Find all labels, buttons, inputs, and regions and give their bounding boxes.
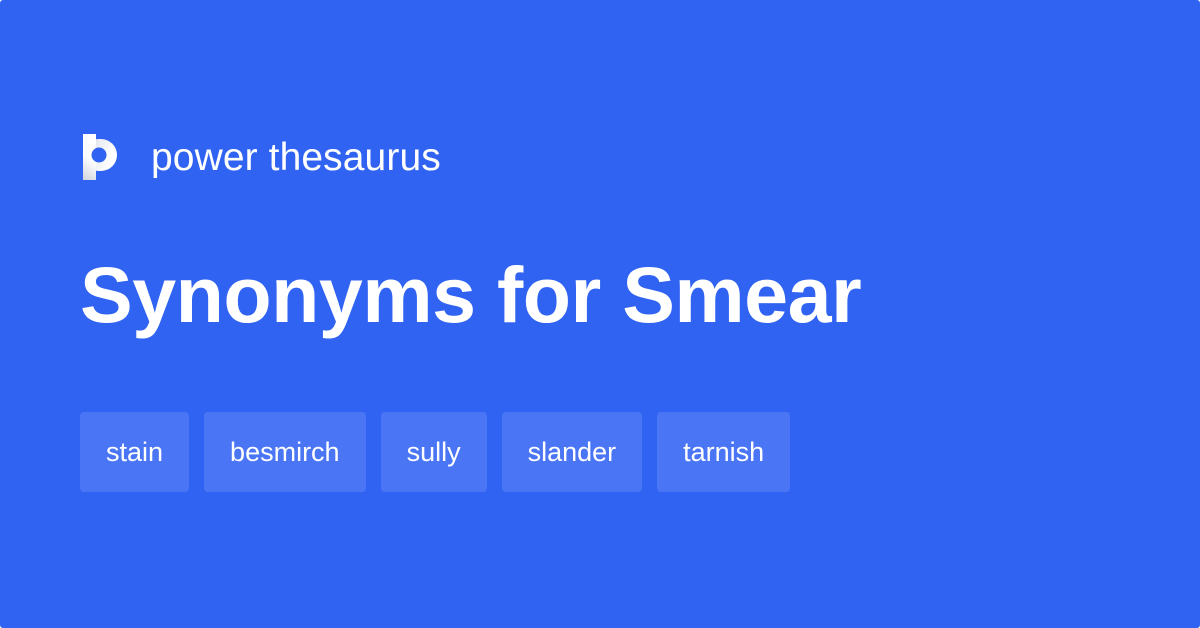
synonym-chip-list: stain besmirch sully slander tarnish [80,412,790,492]
power-thesaurus-b-logo-icon [80,132,118,182]
brand-name: power thesaurus [151,138,441,177]
page-canvas: power thesaurus Synonyms for Smear stain… [0,0,1200,628]
synonym-chip[interactable]: besmirch [204,412,366,492]
synonym-chip[interactable]: slander [502,412,643,492]
synonym-chip[interactable]: sully [381,412,487,492]
synonym-chip[interactable]: tarnish [657,412,790,492]
brand-lockup[interactable]: power thesaurus [80,128,441,186]
synonym-chip[interactable]: stain [80,412,189,492]
page-title: Synonyms for Smear [80,248,861,342]
